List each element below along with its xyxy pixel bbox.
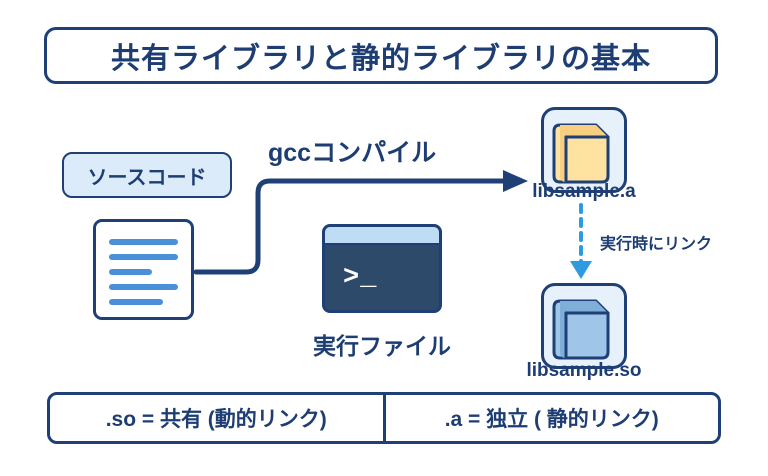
legend-bar: .so = 共有 (動的リンク) .a = 独立 ( 静的リンク)	[47, 392, 721, 444]
runtime-link-dashed-arrow-icon	[570, 205, 592, 279]
diagram-title-box: 共有ライブラリと静的ライブラリの基本	[44, 27, 718, 84]
page-title: 共有ライブラリと静的ライブラリの基本	[111, 35, 651, 77]
terminal-prompt-text: >_	[343, 265, 377, 292]
shared-library-caption: libsample.so	[474, 360, 694, 382]
document-icon	[93, 219, 194, 320]
legend-cell-a: .a = 独立 ( 静的リンク)	[386, 395, 719, 441]
diagram-canvas: 共有ライブラリと静的ライブラリの基本 ソースコード gccコンパイル >_ 実行…	[0, 0, 768, 476]
static-library-caption: libsample.a	[474, 181, 694, 203]
runtime-link-label: 実行時にリンク	[600, 230, 712, 254]
terminal-titlebar	[325, 227, 439, 245]
gcc-compile-label: gccコンパイル	[268, 133, 436, 169]
document-line	[109, 239, 178, 245]
source-code-label: ソースコード	[88, 161, 207, 190]
document-line	[109, 254, 178, 260]
shared-library-tile	[541, 283, 627, 369]
terminal-icon: >_	[322, 224, 442, 313]
document-line	[109, 269, 152, 275]
executable-file-label: 実行ファイル	[300, 327, 464, 361]
source-code-label-box: ソースコード	[62, 152, 232, 198]
document-line	[109, 284, 178, 290]
document-line	[109, 299, 163, 305]
legend-cell-so: .so = 共有 (動的リンク)	[50, 395, 383, 441]
